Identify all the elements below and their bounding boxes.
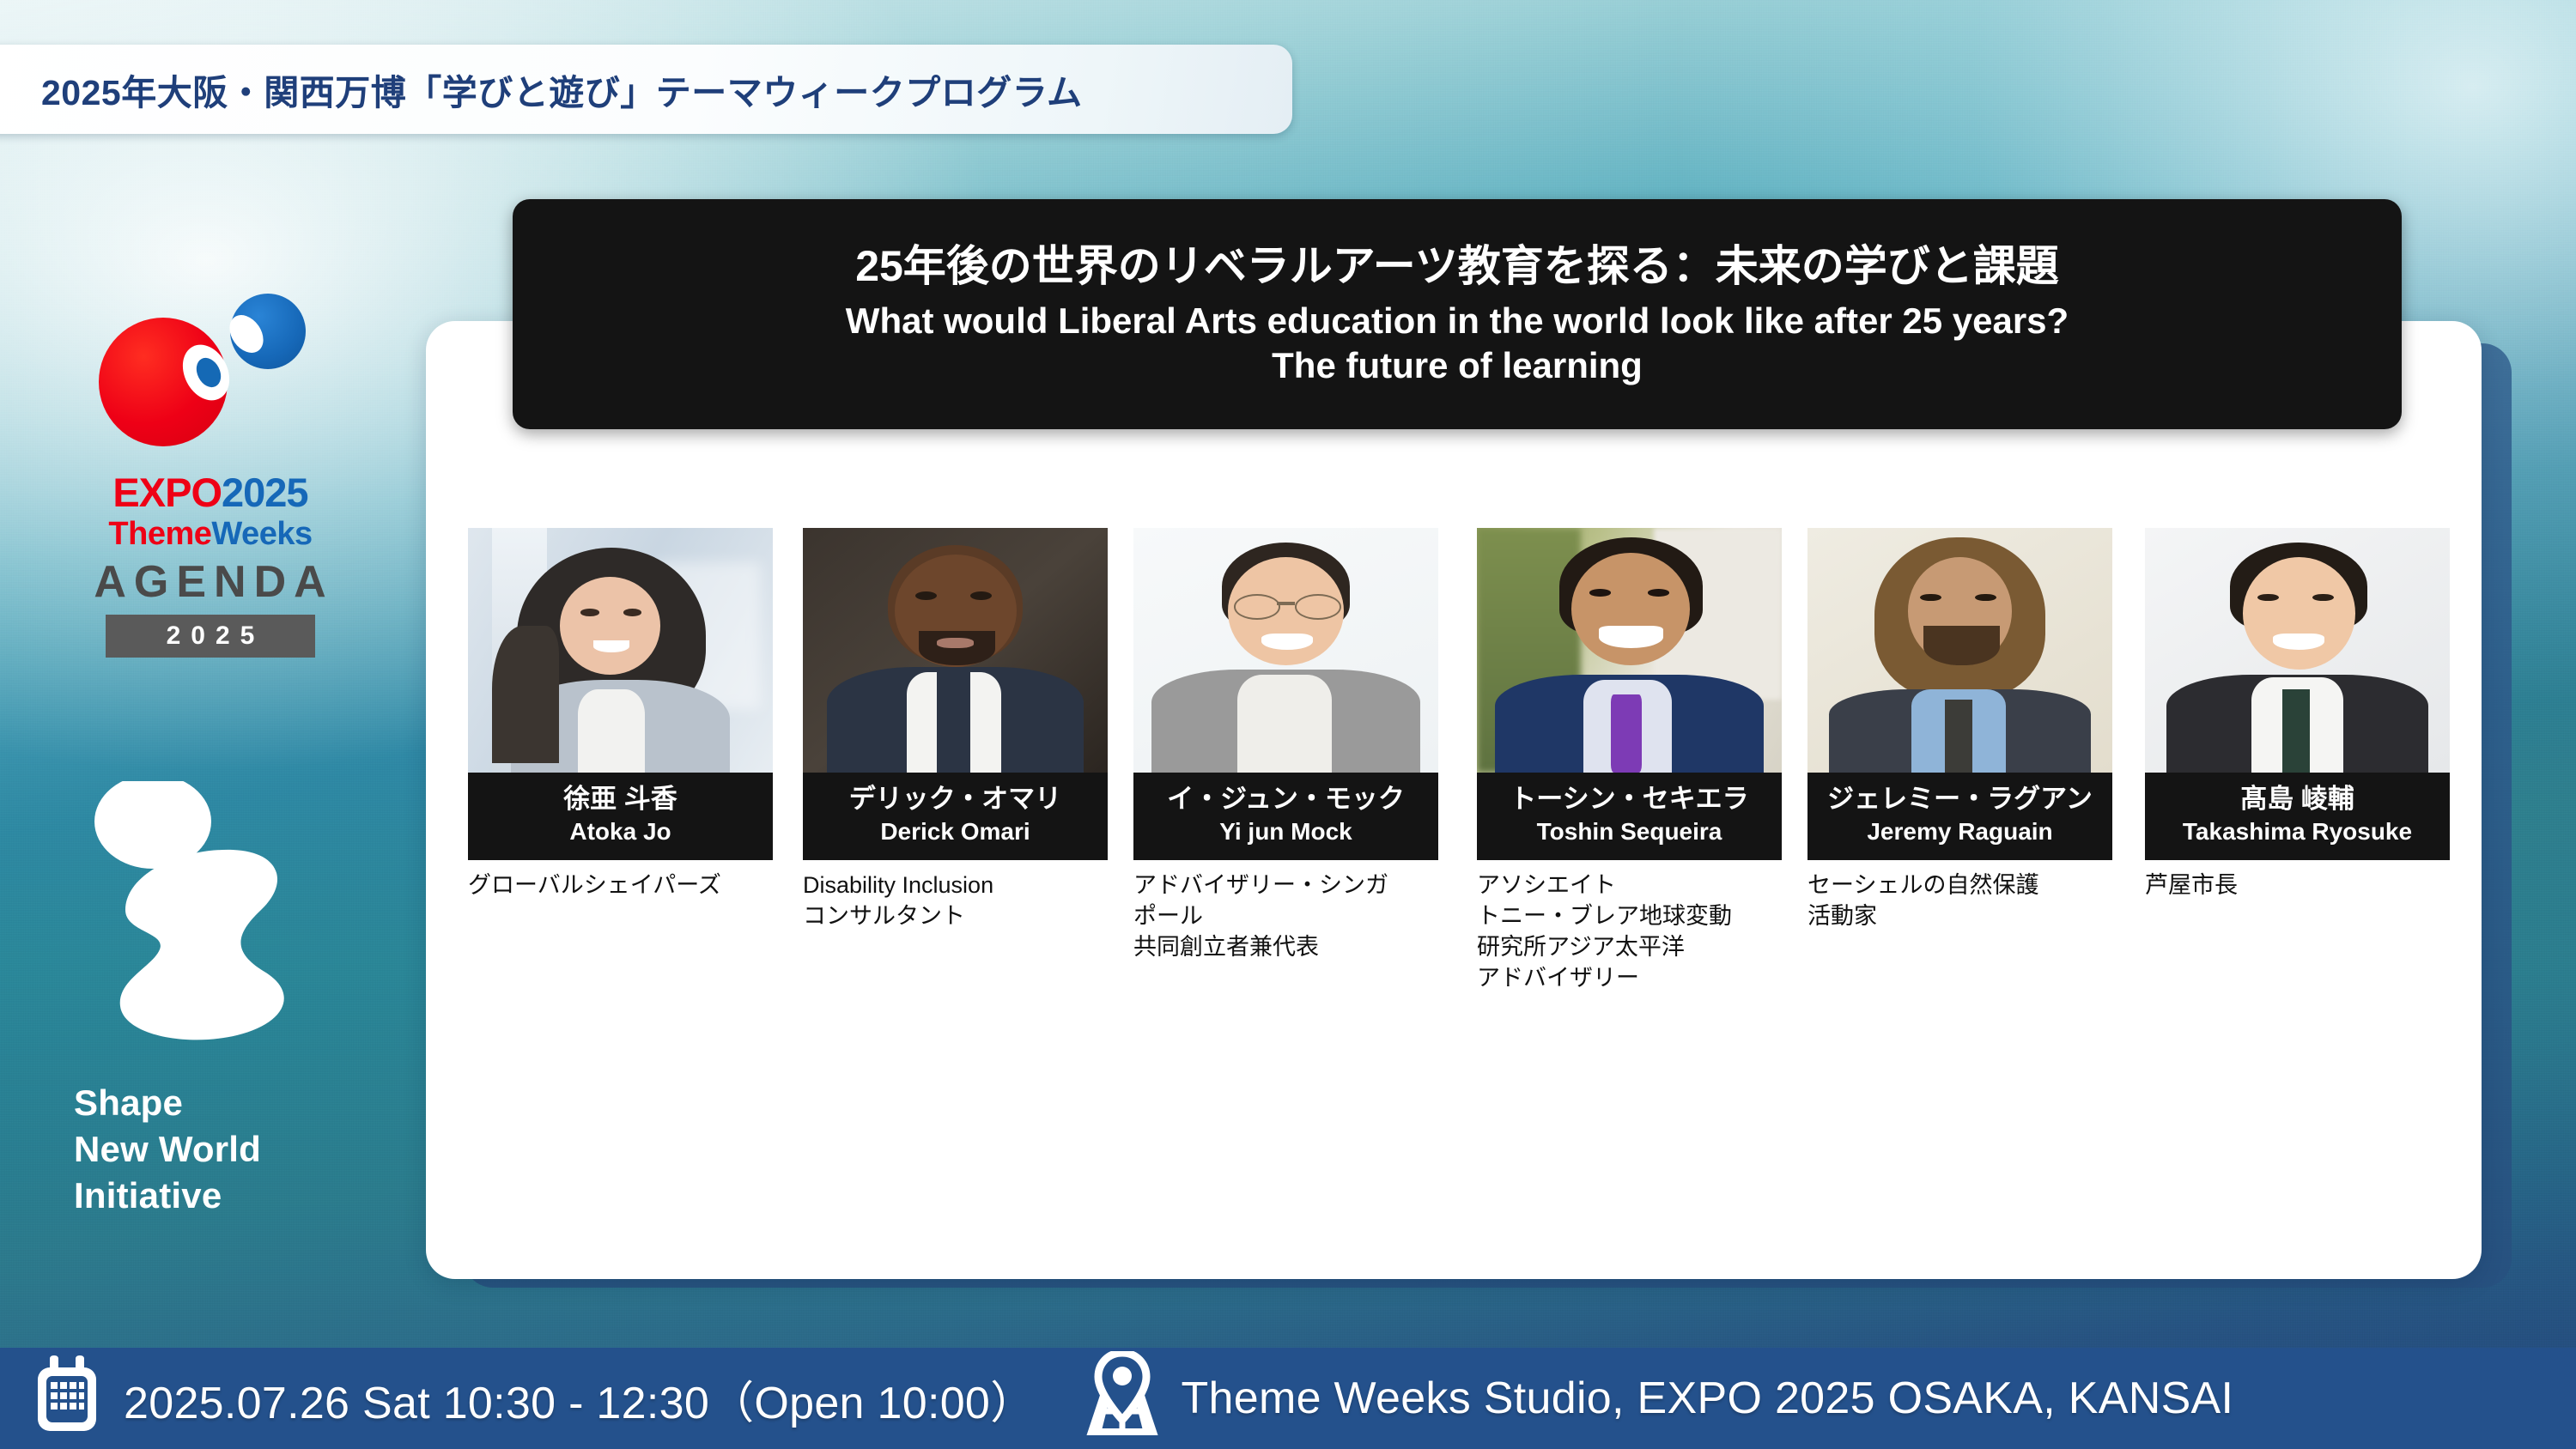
agenda-word: AGENDA xyxy=(69,559,352,606)
snw-line-2: New World xyxy=(74,1126,331,1173)
speaker-name-en: Takashima Ryosuke xyxy=(2150,816,2445,846)
speaker-photo xyxy=(1133,528,1438,773)
speaker-name-jp: 徐亜 斗香 xyxy=(473,783,768,815)
speaker-card: イ・ジュン・モック Yi jun Mock アドバイザリー・シンガポール共同創立… xyxy=(1133,528,1438,963)
speaker-role: アソシエイトトニー・ブレア地球変動研究所アジア太平洋アドバイザリー xyxy=(1477,870,1782,994)
speaker-role: Disability Inclusionコンサルタント xyxy=(803,870,1108,932)
speaker-name-jp: ジェレミー・ラグアン xyxy=(1813,783,2107,815)
speaker-name-en: Atoka Jo xyxy=(473,816,768,846)
datetime-group: 2025.07.26 Sat 10:30 - 12:30（Open 10:00） xyxy=(0,1355,1035,1442)
speaker-photo xyxy=(1477,528,1782,773)
speaker-name-bar: ジェレミー・ラグアン Jeremy Raguain xyxy=(1807,773,2112,860)
speaker-role: グローバルシェイパーズ xyxy=(468,870,773,901)
speaker-name-jp: デリック・オマリ xyxy=(808,783,1103,815)
event-datetime: 2025.07.26 Sat 10:30 - 12:30（Open 10:00） xyxy=(124,1367,1035,1431)
snw-figure-icon xyxy=(74,781,331,1056)
expo-theme-weeks-logo: EXPO2025 ThemeWeeks AGENDA 2025 xyxy=(69,283,352,712)
speaker-name-jp: トーシン・セキエラ xyxy=(1482,783,1777,815)
speaker-photo xyxy=(468,528,773,773)
expo-word: EXPO xyxy=(112,470,222,515)
speaker-photo xyxy=(1807,528,2112,773)
speaker-name-bar: 髙島 崚輔 Takashima Ryosuke xyxy=(2145,773,2450,860)
weeks-word: Weeks xyxy=(211,516,312,552)
speaker-name-jp: イ・ジュン・モック xyxy=(1139,783,1433,815)
speaker-name-bar: トーシン・セキエラ Toshin Sequeira xyxy=(1477,773,1782,860)
program-title-banner: 2025年大阪・関西万博「学びと遊び」テーマウィークプログラム xyxy=(0,45,1292,134)
event-info-bar: 2025.07.26 Sat 10:30 - 12:30（Open 10:00）… xyxy=(0,1348,2576,1449)
speaker-role: 芦屋市長 xyxy=(2145,870,2450,901)
theme-word: Theme xyxy=(108,516,211,552)
speaker-name-bar: 徐亜 斗香 Atoka Jo xyxy=(468,773,773,860)
expo-wordmark: EXPO2025 ThemeWeeks AGENDA 2025 xyxy=(69,472,352,658)
snw-line-1: Shape xyxy=(74,1080,331,1126)
speaker-card: 髙島 崚輔 Takashima Ryosuke 芦屋市長 xyxy=(2145,528,2450,901)
agenda-year-text: 2025 xyxy=(156,621,265,651)
speaker-role: アドバイザリー・シンガポール共同創立者兼代表 xyxy=(1133,870,1438,963)
session-title-jp: 25年後の世界のリベラルアーツ教育を探る：未来の学びと課題 xyxy=(855,241,2059,292)
agenda-year-badge: 2025 xyxy=(106,615,315,658)
speaker-name-bar: デリック・オマリ Derick Omari xyxy=(803,773,1108,860)
speaker-name-en: Derick Omari xyxy=(808,816,1103,846)
expo-year: 2025 xyxy=(222,470,308,515)
session-title-en-line1: What would Liberal Arts education in the… xyxy=(846,299,2069,343)
program-title-text: 2025年大阪・関西万博「学びと遊び」テーマウィークプログラム xyxy=(41,64,1082,115)
session-title-en-line2: The future of learning xyxy=(1272,343,1643,387)
speaker-name-en: Jeremy Raguain xyxy=(1813,816,2107,846)
speaker-grid: 徐亜 斗香 Atoka Jo グローバルシェイパーズ デリック・オマリ Deri… xyxy=(468,528,2451,931)
snw-line-3: Initiative xyxy=(74,1173,331,1219)
speaker-name-en: Toshin Sequeira xyxy=(1482,816,1777,846)
venue-group: Theme Weeks Studio, EXPO 2025 OSAKA, KAN… xyxy=(1035,1351,2233,1446)
speaker-card: 徐亜 斗香 Atoka Jo グローバルシェイパーズ xyxy=(468,528,773,901)
speaker-card: トーシン・セキエラ Toshin Sequeira アソシエイトトニー・ブレア地… xyxy=(1477,528,1782,994)
speaker-card: デリック・オマリ Derick Omari Disability Inclusi… xyxy=(803,528,1108,932)
speaker-name-bar: イ・ジュン・モック Yi jun Mock xyxy=(1133,773,1438,860)
speaker-role: セーシェルの自然保護活動家 xyxy=(1807,870,2112,932)
calendar-icon xyxy=(29,1355,105,1442)
map-pin-icon xyxy=(1079,1351,1165,1446)
speaker-name-en: Yi jun Mock xyxy=(1139,816,1433,846)
session-title-box: 25年後の世界のリベラルアーツ教育を探る：未来の学びと課題 What would… xyxy=(513,199,2402,429)
speaker-card: ジェレミー・ラグアン Jeremy Raguain セーシェルの自然保護活動家 xyxy=(1807,528,2112,932)
snw-text-block: Shape New World Initiative xyxy=(74,1080,331,1218)
speaker-photo xyxy=(803,528,1108,773)
shape-new-world-initiative-logo: Shape New World Initiative xyxy=(74,781,331,1313)
speaker-name-jp: 髙島 崚輔 xyxy=(2150,783,2445,815)
event-venue: Theme Weeks Studio, EXPO 2025 OSAKA, KAN… xyxy=(1181,1373,2233,1424)
speaker-photo xyxy=(2145,528,2450,773)
